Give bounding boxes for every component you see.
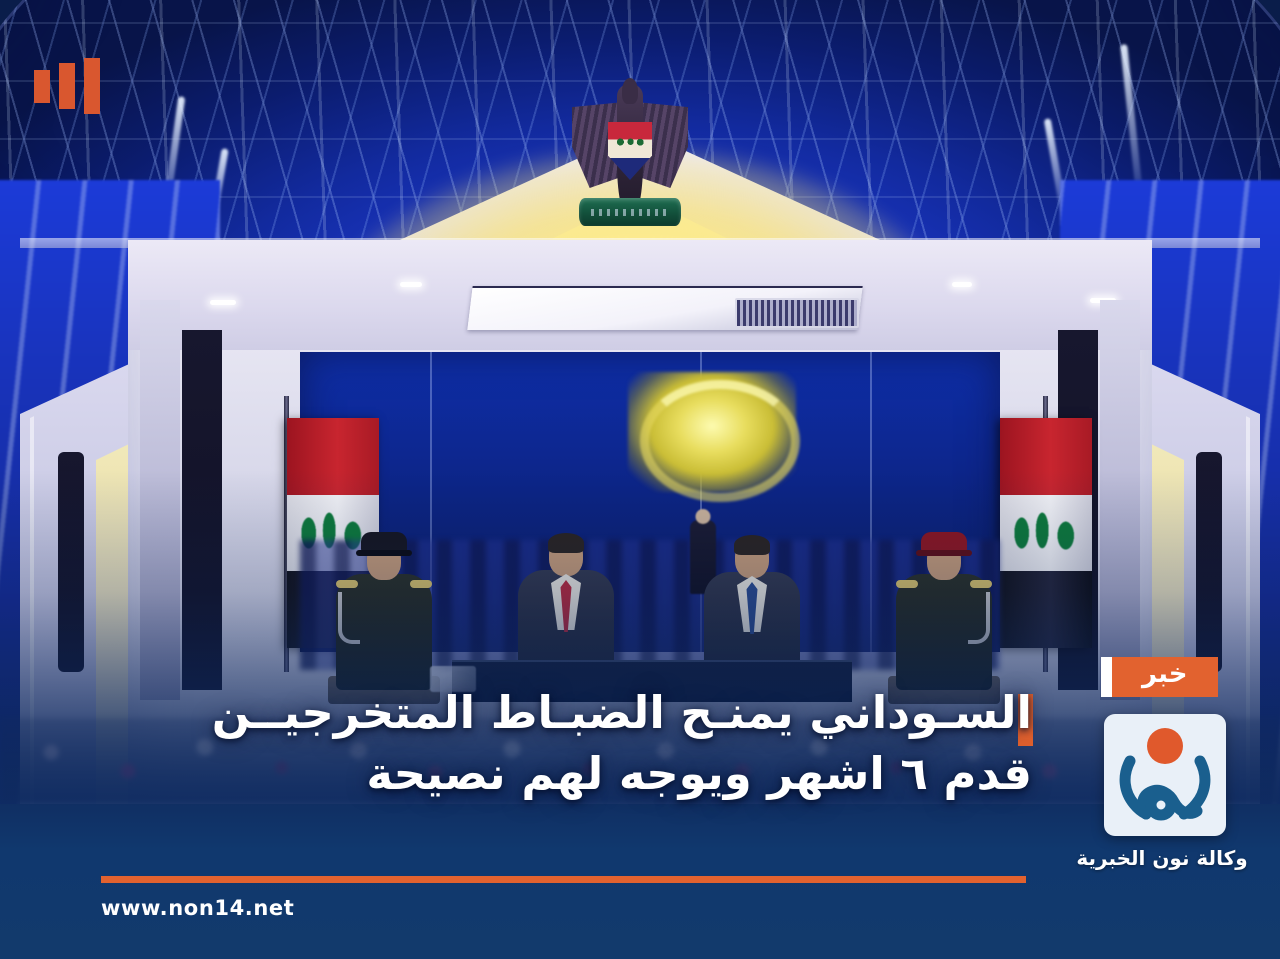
emblem-scroll (579, 198, 681, 226)
news-badge-tick (1101, 657, 1112, 697)
news-badge-label: خبر (1112, 657, 1218, 697)
ceiling-light (952, 282, 972, 287)
ceiling-light (400, 282, 422, 287)
headline: السـوداني يمنـح الضبـاط المتخرجيــن قدم … (122, 682, 1032, 804)
brand-bar-2 (59, 63, 75, 109)
emblem-shield-script (614, 136, 646, 148)
headline-line-2: قدم ٦ اشهر ويوجه لهم نصيحة (122, 743, 1032, 804)
brand-bars-icon (34, 58, 100, 114)
headline-line-1: السـوداني يمنـح الضبـاط المتخرجيــن (122, 682, 1032, 743)
news-badge: خبر (1101, 657, 1218, 697)
news-card: خبر السـوداني يمنـح الضبـاط المتخرجيــن … (0, 0, 1280, 959)
eagle-head (622, 78, 638, 104)
brand-bar-1 (84, 58, 100, 114)
site-url: www.non14.net (101, 896, 294, 920)
air-conditioning-grill-icon (735, 298, 859, 328)
brand-bar-3 (34, 70, 50, 103)
noon-news-agency-logo (1104, 714, 1226, 836)
footer-divider (101, 876, 1026, 883)
agency-name: وكالة نون الخبرية (1046, 846, 1278, 870)
logo-noon-mark-icon (1104, 714, 1226, 836)
ceiling-light (210, 300, 236, 305)
iraq-national-emblem-icon (566, 78, 694, 228)
